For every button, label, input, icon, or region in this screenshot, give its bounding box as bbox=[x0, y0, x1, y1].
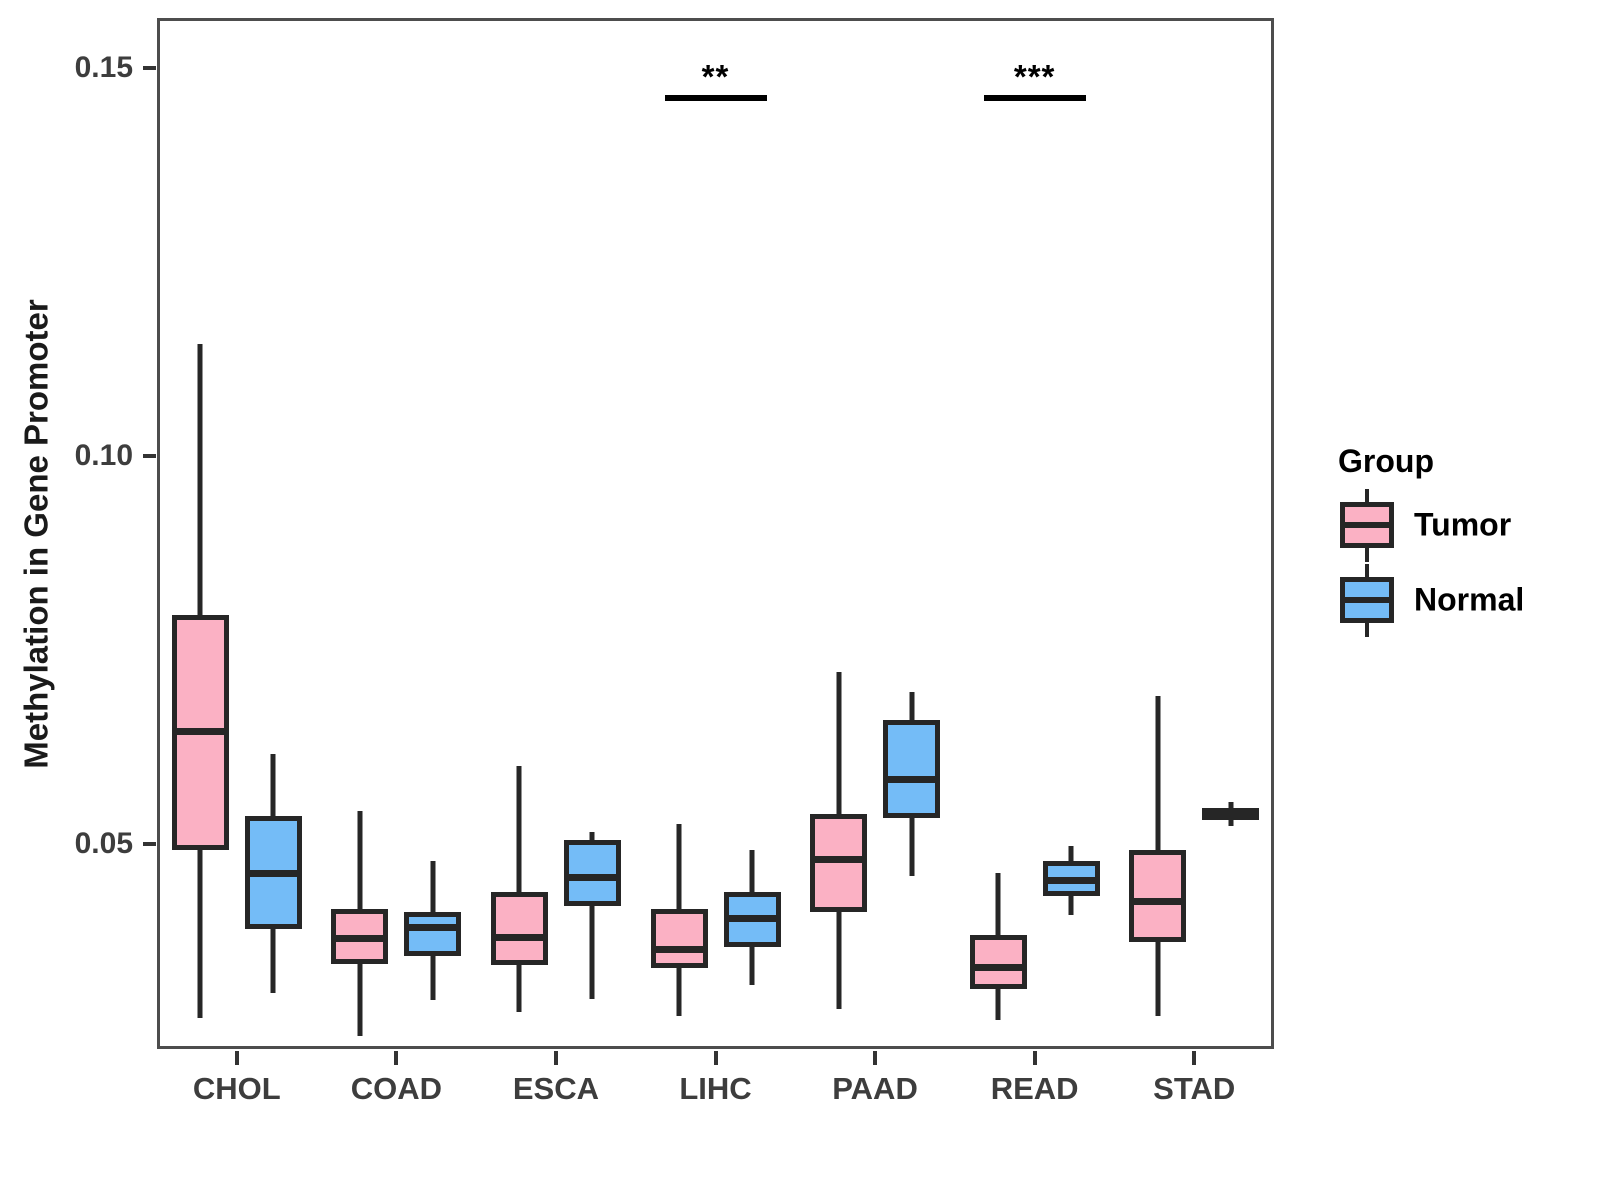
whisker-upper bbox=[430, 861, 435, 912]
whisker-lower bbox=[590, 906, 595, 999]
x-tick-label-lihc: LIHC bbox=[679, 1071, 751, 1107]
median-line bbox=[564, 874, 621, 881]
x-tick-mark bbox=[1192, 1051, 1196, 1065]
box-lihc-tumor bbox=[651, 909, 708, 968]
x-tick-label-chol: CHOL bbox=[193, 1071, 281, 1107]
median-line bbox=[724, 915, 781, 922]
x-tick-label-esca: ESCA bbox=[513, 1071, 599, 1107]
whisker-lower bbox=[430, 956, 435, 1000]
whisker-lower bbox=[271, 929, 276, 993]
x-tick-mark bbox=[235, 1051, 239, 1065]
whisker-lower bbox=[1155, 942, 1160, 1016]
median-line bbox=[1043, 877, 1100, 884]
median-line bbox=[331, 935, 388, 942]
whisker-lower bbox=[909, 818, 914, 876]
x-tick-label-stad: STAD bbox=[1153, 1071, 1235, 1107]
x-tick-label-paad: PAAD bbox=[832, 1071, 918, 1107]
whisker-upper bbox=[750, 850, 755, 892]
whisker-lower bbox=[996, 989, 1001, 1021]
whisker-upper bbox=[836, 672, 841, 814]
x-tick-mark bbox=[873, 1051, 877, 1065]
legend-whisker-bottom bbox=[1365, 548, 1369, 562]
whisker-lower bbox=[517, 965, 522, 1012]
significance-label: *** bbox=[1014, 58, 1056, 96]
median-line bbox=[404, 924, 461, 931]
chart-root: Methylation in Gene Promoter 0.050.100.1… bbox=[0, 0, 1600, 1200]
median-line bbox=[810, 856, 867, 863]
whisker-upper bbox=[909, 692, 914, 719]
median-line bbox=[172, 728, 229, 735]
box-stad-tumor bbox=[1129, 850, 1186, 942]
median-line bbox=[883, 776, 940, 783]
box-coad-normal bbox=[404, 912, 461, 956]
median-line bbox=[1202, 811, 1259, 818]
whisker-upper bbox=[996, 873, 1001, 935]
whisker-upper bbox=[677, 824, 682, 908]
whisker-lower bbox=[198, 850, 203, 1018]
box-esca-tumor bbox=[491, 892, 548, 965]
whisker-lower bbox=[677, 968, 682, 1016]
legend-label-normal: Normal bbox=[1414, 582, 1524, 619]
x-tick-mark bbox=[554, 1051, 558, 1065]
whisker-upper bbox=[1069, 846, 1074, 862]
x-tick-label-read: READ bbox=[991, 1071, 1079, 1107]
legend-key-median bbox=[1340, 522, 1394, 528]
median-line bbox=[1129, 898, 1186, 905]
whisker-upper bbox=[271, 754, 276, 816]
x-tick-mark bbox=[394, 1051, 398, 1065]
legend-whisker-bottom bbox=[1365, 623, 1369, 637]
median-line bbox=[970, 964, 1027, 971]
whisker-lower bbox=[357, 964, 362, 1036]
box-paad-normal bbox=[883, 720, 940, 818]
whisker-upper bbox=[1155, 696, 1160, 849]
whisker-lower bbox=[1069, 896, 1074, 915]
x-tick-mark bbox=[714, 1051, 718, 1065]
median-line bbox=[651, 946, 708, 953]
whisker-lower bbox=[750, 947, 755, 985]
whisker-upper bbox=[517, 766, 522, 892]
legend-whisker-top bbox=[1365, 564, 1369, 578]
x-tick-label-coad: COAD bbox=[351, 1071, 442, 1107]
box-read-tumor bbox=[970, 935, 1027, 988]
median-line bbox=[491, 934, 548, 941]
whisker-upper bbox=[590, 832, 595, 840]
x-tick-mark bbox=[1033, 1051, 1037, 1065]
legend-title: Group bbox=[1338, 443, 1434, 480]
legend-key-median bbox=[1340, 597, 1394, 603]
whisker-upper bbox=[198, 344, 203, 615]
box-esca-normal bbox=[564, 840, 621, 906]
whisker-upper bbox=[357, 811, 362, 909]
median-line bbox=[245, 870, 302, 877]
legend-label-tumor: Tumor bbox=[1414, 507, 1511, 544]
whisker-lower bbox=[1228, 820, 1233, 825]
significance-label: ** bbox=[702, 58, 730, 96]
whisker-lower bbox=[836, 912, 841, 1009]
legend-whisker-top bbox=[1365, 489, 1369, 503]
